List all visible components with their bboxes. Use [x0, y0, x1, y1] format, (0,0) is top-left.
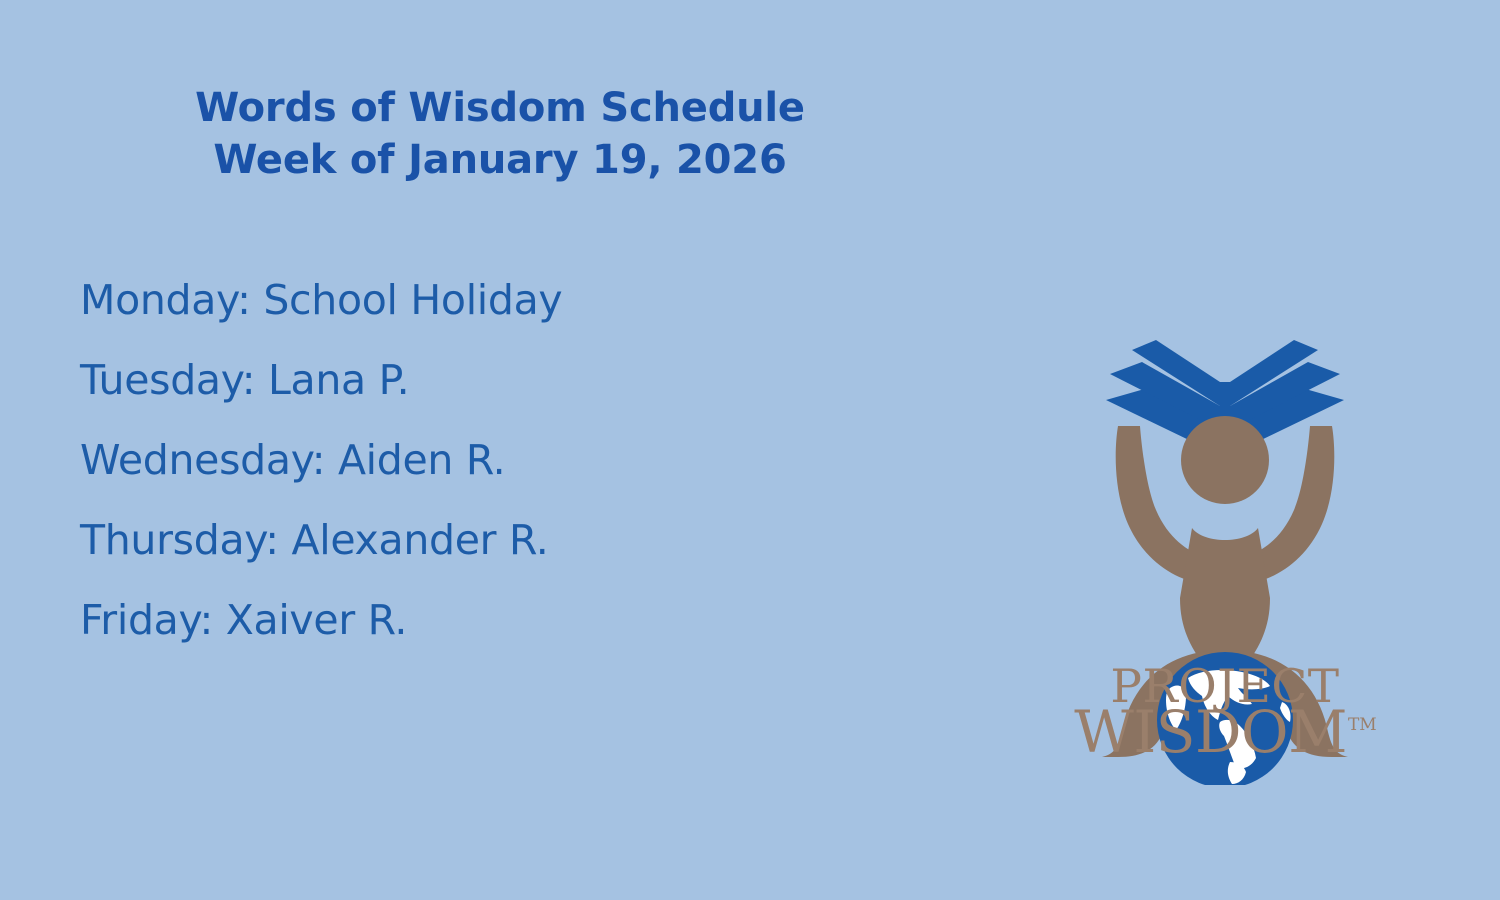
schedule-row-monday: Monday: School Holiday [80, 272, 980, 352]
schedule-row-friday: Friday: Xaiver R. [80, 592, 980, 672]
schedule-assignment: Xaiver R. [226, 596, 407, 644]
schedule-day-label: Wednesday: [80, 436, 325, 484]
schedule-assignment: Alexander R. [292, 516, 549, 564]
title-line-1: Words of Wisdom Schedule [150, 82, 850, 134]
page-title: Words of Wisdom Schedule Week of January… [150, 82, 850, 186]
schedule-row-thursday: Thursday: Alexander R. [80, 512, 980, 592]
schedule-row-tuesday: Tuesday: Lana P. [80, 352, 980, 432]
globe-icon [1157, 652, 1293, 785]
schedule-day-label: Monday: [80, 276, 251, 324]
schedule-assignment: Lana P. [268, 356, 409, 404]
schedule-row-wednesday: Wednesday: Aiden R. [80, 432, 980, 512]
schedule-list: Monday: School Holiday Tuesday: Lana P. … [80, 272, 980, 672]
schedule-day-label: Tuesday: [80, 356, 255, 404]
schedule-assignment: Aiden R. [338, 436, 505, 484]
schedule-day-label: Friday: [80, 596, 213, 644]
slide-canvas: Words of Wisdom Schedule Week of January… [0, 0, 1500, 900]
title-line-2: Week of January 19, 2026 [150, 134, 850, 186]
schedule-day-label: Thursday: [80, 516, 279, 564]
schedule-assignment: School Holiday [263, 276, 562, 324]
project-wisdom-logo [1070, 330, 1380, 785]
